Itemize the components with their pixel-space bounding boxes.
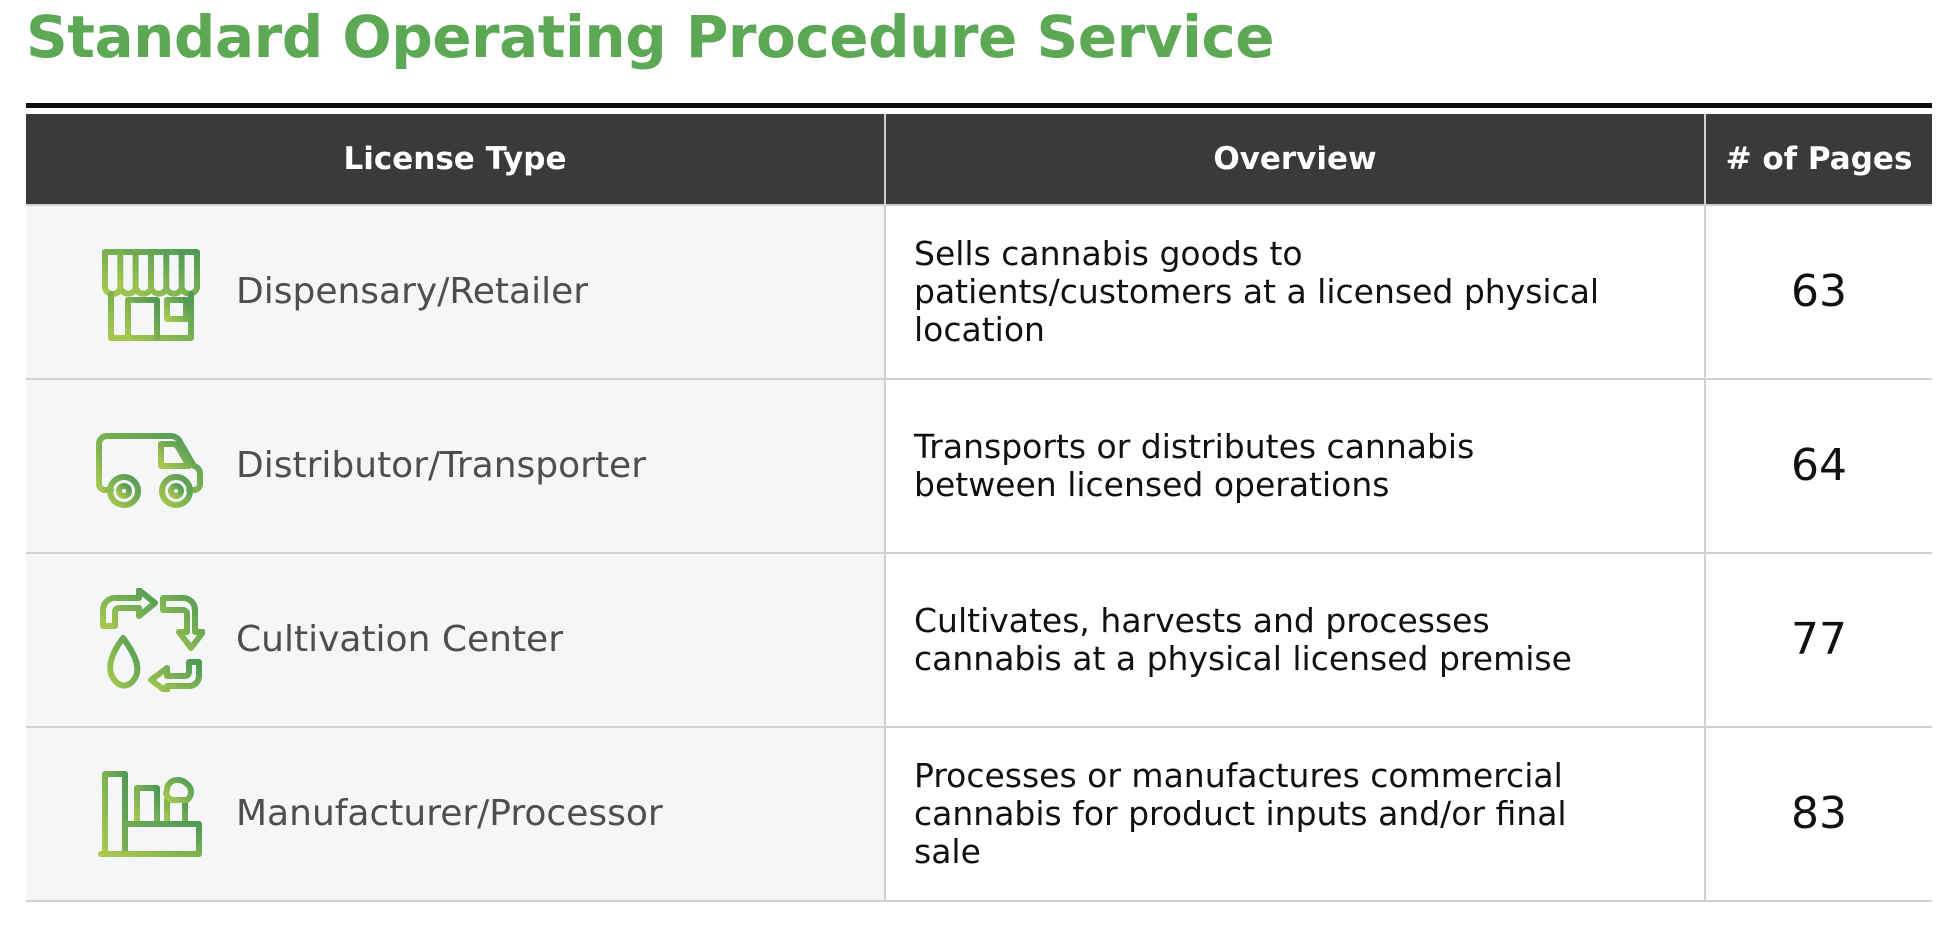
overview-text: Cultivates, harvests and processes canna…	[914, 602, 1614, 679]
sop-license-table: License Type Overview # of Pages	[26, 114, 1932, 902]
pages-count: 64	[1791, 440, 1847, 491]
license-type-label: Distributor/Transporter	[236, 446, 646, 486]
overview-text: Sells cannabis goods to patients/custome…	[914, 235, 1614, 350]
pages-count: 63	[1791, 266, 1847, 317]
overview-text: Transports or distributes cannabis betwe…	[914, 428, 1614, 505]
table-row: Dispensary/Retailer Sells cannabis goods…	[26, 205, 1932, 379]
cell-overview: Transports or distributes cannabis betwe…	[885, 379, 1705, 553]
page-title: Standard Operating Procedure Service	[26, 6, 1930, 69]
delivery-van-icon	[92, 413, 210, 519]
table-row: Distributor/Transporter Transports or di…	[26, 379, 1932, 553]
cell-overview: Cultivates, harvests and processes canna…	[885, 553, 1705, 727]
cell-license-type: Dispensary/Retailer	[26, 205, 885, 379]
cell-license-type: Manufacturer/Processor	[26, 727, 885, 901]
column-header-pages: # of Pages	[1705, 114, 1932, 205]
factory-icon	[92, 761, 210, 867]
title-underline-rule	[26, 103, 1932, 108]
cell-overview: Sells cannabis goods to patients/custome…	[885, 205, 1705, 379]
table-body: Dispensary/Retailer Sells cannabis goods…	[26, 205, 1932, 901]
cell-pages: 83	[1705, 727, 1932, 901]
title-block: Standard Operating Procedure Service	[26, 6, 1930, 69]
column-header-overview: Overview	[885, 114, 1705, 205]
recycle-leaf-icon	[92, 587, 210, 693]
table-row: Manufacturer/Processor Processes or manu…	[26, 727, 1932, 901]
license-type-label: Cultivation Center	[236, 620, 563, 660]
column-header-license-type: License Type	[26, 114, 885, 205]
overview-text: Processes or manufactures commercial can…	[914, 757, 1614, 872]
license-type-label: Dispensary/Retailer	[236, 272, 588, 312]
cell-pages: 77	[1705, 553, 1932, 727]
cell-pages: 64	[1705, 379, 1932, 553]
storefront-icon	[92, 239, 210, 345]
slide-page: Standard Operating Procedure Service Lic…	[0, 0, 1956, 930]
license-type-label: Manufacturer/Processor	[236, 794, 663, 834]
pages-count: 83	[1791, 788, 1847, 839]
cell-pages: 63	[1705, 205, 1932, 379]
pages-count: 77	[1791, 614, 1847, 665]
cell-license-type: Distributor/Transporter	[26, 379, 885, 553]
cell-overview: Processes or manufactures commercial can…	[885, 727, 1705, 901]
table-header: License Type Overview # of Pages	[26, 114, 1932, 205]
table-row: Cultivation Center Cultivates, harvests …	[26, 553, 1932, 727]
cell-license-type: Cultivation Center	[26, 553, 885, 727]
table-header-row: License Type Overview # of Pages	[26, 114, 1932, 205]
